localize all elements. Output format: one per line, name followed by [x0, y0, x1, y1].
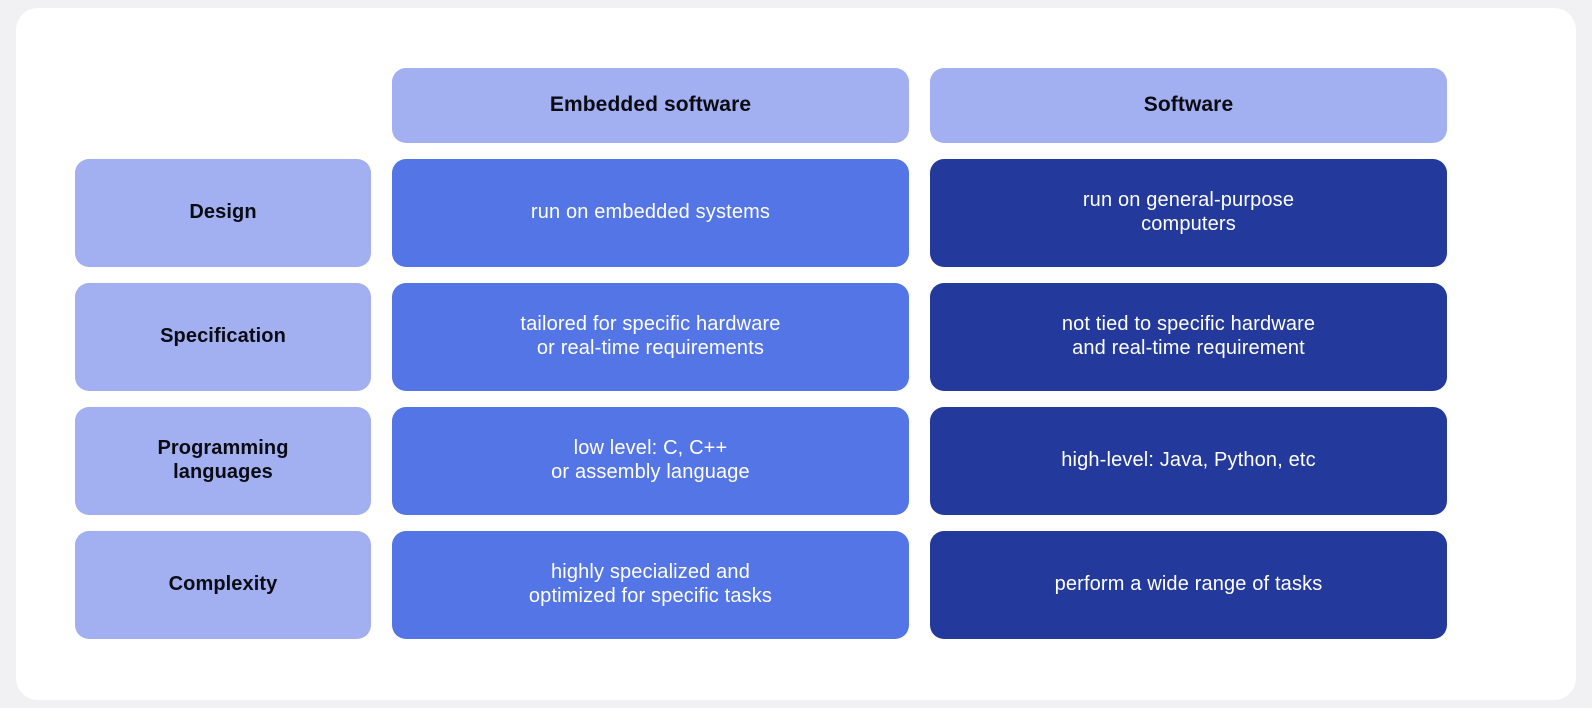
comparison-card: Embedded software Software Design run on… — [16, 8, 1576, 700]
table-corner-cell — [75, 68, 371, 143]
column-header-embedded-software: Embedded software — [392, 68, 909, 143]
cell-complexity-software: perform a wide range of tasks — [930, 531, 1447, 639]
row-label-complexity: Complexity — [75, 531, 371, 639]
row-label-design: Design — [75, 159, 371, 267]
column-header-software: Software — [930, 68, 1447, 143]
cell-specification-software: not tied to specific hardware and real-t… — [930, 283, 1447, 391]
cell-design-software: run on general-purpose computers — [930, 159, 1447, 267]
cell-specification-embedded: tailored for specific hardware or real-t… — [392, 283, 909, 391]
cell-programming-languages-embedded: low level: C, C++ or assembly language — [392, 407, 909, 515]
row-label-programming-languages: Programming languages — [75, 407, 371, 515]
row-label-specification: Specification — [75, 283, 371, 391]
cell-design-embedded: run on embedded systems — [392, 159, 909, 267]
cell-programming-languages-software: high-level: Java, Python, etc — [930, 407, 1447, 515]
cell-complexity-embedded: highly specialized and optimized for spe… — [392, 531, 909, 639]
comparison-table: Embedded software Software Design run on… — [75, 68, 1517, 639]
